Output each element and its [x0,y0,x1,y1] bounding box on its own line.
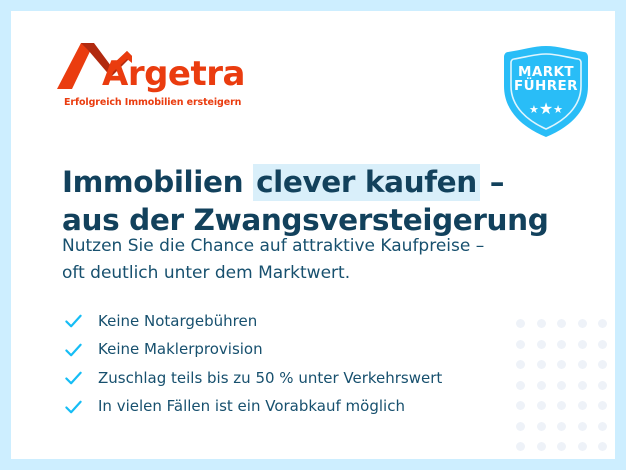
badge-stars: ★★★ [500,102,592,118]
list-item-label: Keine Notargebühren [98,314,257,329]
dot [598,442,607,451]
dot [598,360,607,369]
logo-wordmark: Argetra [102,57,245,91]
dot [598,319,607,328]
dot [557,422,566,431]
logo-tagline: Erfolgreich Immobilien ersteigern [64,97,241,108]
dot [578,319,587,328]
list-item: Keine Maklerprovision [62,336,562,365]
star-right: ★ [553,104,563,116]
check-icon [64,340,83,359]
list-item-label: In vielen Fällen ist ein Vorabkauf mögli… [98,399,405,414]
subheading: Nutzen Sie die Chance auf attraktive Kau… [62,233,582,287]
dot [578,360,587,369]
list-item-label: Zuschlag teils bis zu 50 % unter Verkehr… [98,371,442,386]
star-left: ★ [529,104,539,116]
dot [537,422,546,431]
dot [578,340,587,349]
dot [598,401,607,410]
market-leader-badge: MARKT FÜHRER ★★★ [500,44,592,139]
benefits-checklist: Keine NotargebührenKeine Maklerprovision… [62,307,562,421]
check-icon [64,312,83,331]
headline-text-after: – [480,165,504,199]
dot [598,422,607,431]
dot [598,340,607,349]
banner-card: Argetra Erfolgreich Immobilien ersteiger… [11,11,615,459]
headline-highlight: clever kaufen [253,164,480,201]
headline-line-1: Immobilien clever kaufen – [62,163,582,201]
check-icon [64,369,83,388]
list-item: Keine Notargebühren [62,307,562,336]
dot [578,422,587,431]
dot [578,442,587,451]
dot [557,442,566,451]
subheading-line-2: oft deutlich unter dem Marktwert. [62,260,582,287]
page-title: Immobilien clever kaufen – aus der Zwang… [62,163,582,239]
badge-line-2: FÜHRER [500,79,592,93]
dot [578,381,587,390]
badge-text: MARKT FÜHRER [500,65,592,93]
dot [516,422,525,431]
argetra-logo[interactable]: Argetra Erfolgreich Immobilien ersteiger… [55,40,255,112]
dot [598,381,607,390]
dot [537,442,546,451]
list-item: In vielen Fällen ist ein Vorabkauf mögli… [62,393,562,422]
star-center: ★ [539,101,553,118]
dot [516,442,525,451]
list-item-label: Keine Maklerprovision [98,342,263,357]
headline-text-before: Immobilien [62,165,253,199]
check-icon [64,397,83,416]
dot [578,401,587,410]
list-item: Zuschlag teils bis zu 50 % unter Verkehr… [62,364,562,393]
subheading-line-1: Nutzen Sie die Chance auf attraktive Kau… [62,233,582,260]
promo-banner: Argetra Erfolgreich Immobilien ersteiger… [0,0,626,470]
